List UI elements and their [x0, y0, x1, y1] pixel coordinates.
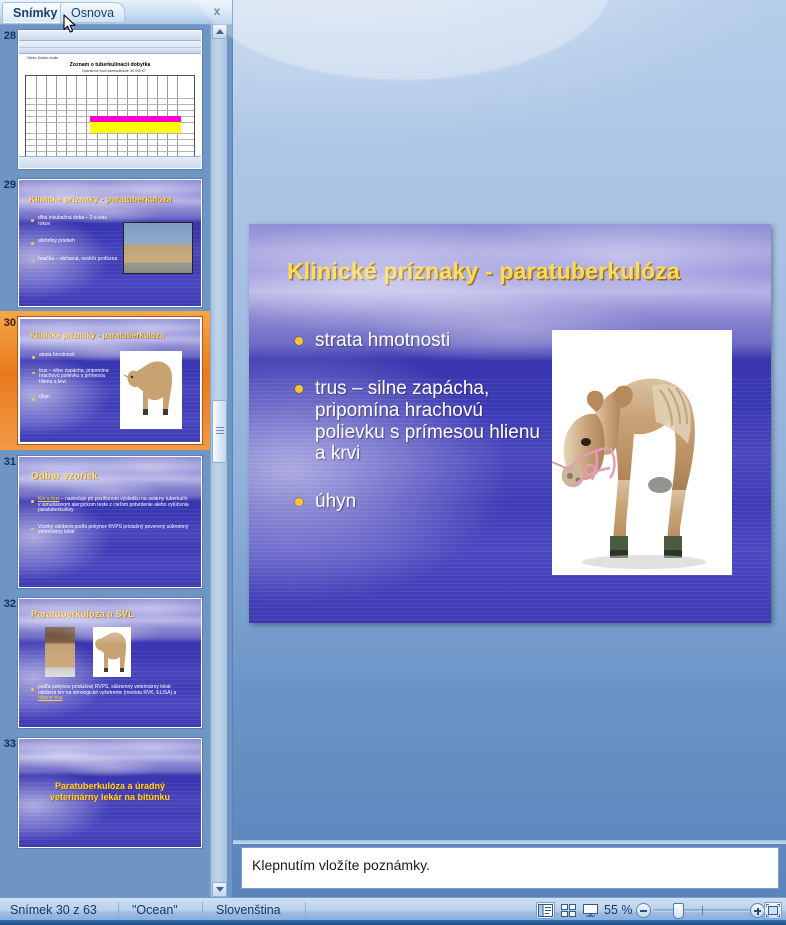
slide-sorter-icon [561, 904, 576, 917]
slide-thumbnail-29[interactable]: 29 Klinické príznaky - paratuberkulóza d… [0, 173, 210, 311]
thumb-bullet: podľa pokynov príslušnej RVPS, súkromný … [31, 685, 189, 702]
thumbnail-image: Paratuberkulóza a úradný veterinárny lek… [18, 738, 202, 848]
thumb-photo [120, 351, 182, 429]
slide-number: 33 [2, 738, 16, 750]
slide-bullet: trus – silne zapácha, pripomína hrachovú… [293, 378, 553, 465]
thumb-bullet: hnačka – občasná, neskôr profúzna [31, 257, 119, 263]
slides-outline-pane: Snímky Osnova x 28 Okres: Košice-okolie … [0, 0, 232, 897]
thumb-bullet: strata hmotnosti [32, 353, 114, 359]
thumb-bullet: afebrilný priebeh [31, 239, 119, 245]
scrollbar-thumb[interactable] [212, 400, 227, 463]
notes-pane[interactable]: Klepnutím vložíte poznámky. [241, 847, 779, 889]
excel-grid [25, 75, 195, 165]
zoom-out-button[interactable] [636, 903, 651, 918]
slide-number: 31 [2, 456, 16, 468]
slide-thumbnail-list[interactable]: 28 Okres: Košice-okolie Zoznam o tuberku… [0, 24, 210, 897]
thumb-link: hlavne trus [38, 695, 62, 701]
powerpoint-window: Snímky Osnova x 28 Okres: Košice-okolie … [0, 0, 786, 925]
notes-placeholder: Klepnutím vložíte poznámky. [242, 848, 778, 882]
theme-name[interactable]: "Ocean" [122, 901, 188, 919]
slide-body-placeholder[interactable]: strata hmotnosti trus – silne zapácha, p… [293, 330, 553, 513]
slide-bullet: úhyn [293, 491, 553, 513]
thumb-bullet: Krv a trus – nasleduje pri pozitívnom vý… [31, 497, 191, 514]
slide-title[interactable]: Klinické príznaky - paratuberkulóza [287, 258, 727, 285]
notes-splitter[interactable] [233, 840, 786, 844]
thumb-title: Klinické príznaky - paratuberkulóza [30, 331, 164, 340]
slide-number: 28 [2, 30, 16, 42]
thumb-link: Krv a trus [38, 496, 59, 502]
fit-window-icon [766, 904, 780, 917]
scroll-down-button[interactable] [212, 882, 227, 897]
slide-thumbnail-28[interactable]: 28 Okres: Košice-okolie Zoznam o tuberku… [0, 24, 210, 173]
slide-thumbnail-32[interactable]: 32 Paratuberkulóza a SVL podľa pokynov p… [0, 592, 210, 732]
thumbnail-image: Klinické príznaky - paratuberkulóza dlhá… [18, 179, 202, 307]
zoom-slider-handle[interactable] [673, 903, 684, 919]
thumb-bullet: dlhá inkubačná doba – 2 a viac rokov [31, 216, 119, 227]
zoom-in-button[interactable] [750, 903, 765, 918]
thumbnail-image: Paratuberkulóza a SVL podľa pokynov prís… [18, 598, 202, 728]
language-indicator[interactable]: Slovenština [206, 901, 291, 919]
slide-thumbnail-33[interactable]: 33 Paratuberkulóza a úradný veterinárny … [0, 732, 210, 852]
normal-view-icon [538, 904, 553, 917]
slide-bullet: strata hmotnosti [293, 330, 553, 352]
slideshow-button[interactable] [580, 902, 599, 919]
thumb-title: Odber vzoriek [31, 471, 98, 482]
pane-tabstrip: Snímky Osnova x [0, 0, 232, 25]
zoom-slider-tick [702, 906, 703, 915]
slide-number: 32 [2, 598, 16, 610]
slide-sorter-button[interactable] [558, 902, 577, 919]
thumb-photo [123, 222, 193, 274]
slideshow-icon [583, 904, 598, 917]
slide-photo-cow[interactable] [552, 330, 732, 575]
slide-number: 29 [2, 179, 16, 191]
thumb-bullet: úhyn [32, 395, 114, 401]
slide-thumbnail-30[interactable]: 30 Klinické príznaky - paratuberkulóza s… [0, 311, 210, 450]
tab-snimky[interactable]: Snímky [2, 2, 68, 23]
current-slide[interactable]: Klinické príznaky - paratuberkulóza stra… [249, 224, 771, 623]
slide-counter[interactable]: Snímek 30 z 63 [0, 901, 107, 919]
excel-operator: Operatívne číslo tuberkulinácie: 50 045 … [19, 69, 201, 73]
thumb-bullet: Vzorky odoberá podľa pokynov RVPS príslu… [31, 525, 191, 536]
excel-title: Zoznam o tuberkulinácii dobytka [19, 60, 201, 69]
thumb-photo [45, 627, 75, 677]
thumbnail-image: Okres: Košice-okolie Zoznam o tuberkulin… [18, 30, 202, 169]
slide-thumbnail-31[interactable]: 31 Odber vzoriek Krv a trus – nasleduje … [0, 450, 210, 592]
status-bar: Snímek 30 z 63 "Ocean" Slovenština [0, 897, 786, 925]
thumbnail-image: Klinické príznaky - paratuberkulóza stra… [18, 317, 202, 444]
slide-editor-area: Klinické príznaky - paratuberkulóza stra… [232, 0, 786, 897]
zoom-level-label[interactable]: 55 % [604, 901, 633, 919]
slide-pane-scrollbar[interactable] [210, 24, 227, 897]
thumb-title: Paratuberkulóza a SVL [31, 609, 134, 620]
normal-view-button[interactable] [536, 902, 555, 919]
tab-osnova[interactable]: Osnova [60, 2, 125, 23]
thumbnail-image: Odber vzoriek Krv a trus – nasleduje pri… [18, 456, 202, 588]
fit-slide-to-window-button[interactable] [764, 902, 782, 919]
thumb-photo [93, 627, 131, 677]
slide-number: 30 [2, 317, 16, 329]
thumb-title: Klinické príznaky - paratuberkulóza [29, 194, 172, 204]
thumb-title: Paratuberkulóza a úradný veterinárny lek… [33, 781, 187, 804]
thumb-bullet: trus – silne zapácha, pripomína hrachovú… [32, 369, 114, 386]
